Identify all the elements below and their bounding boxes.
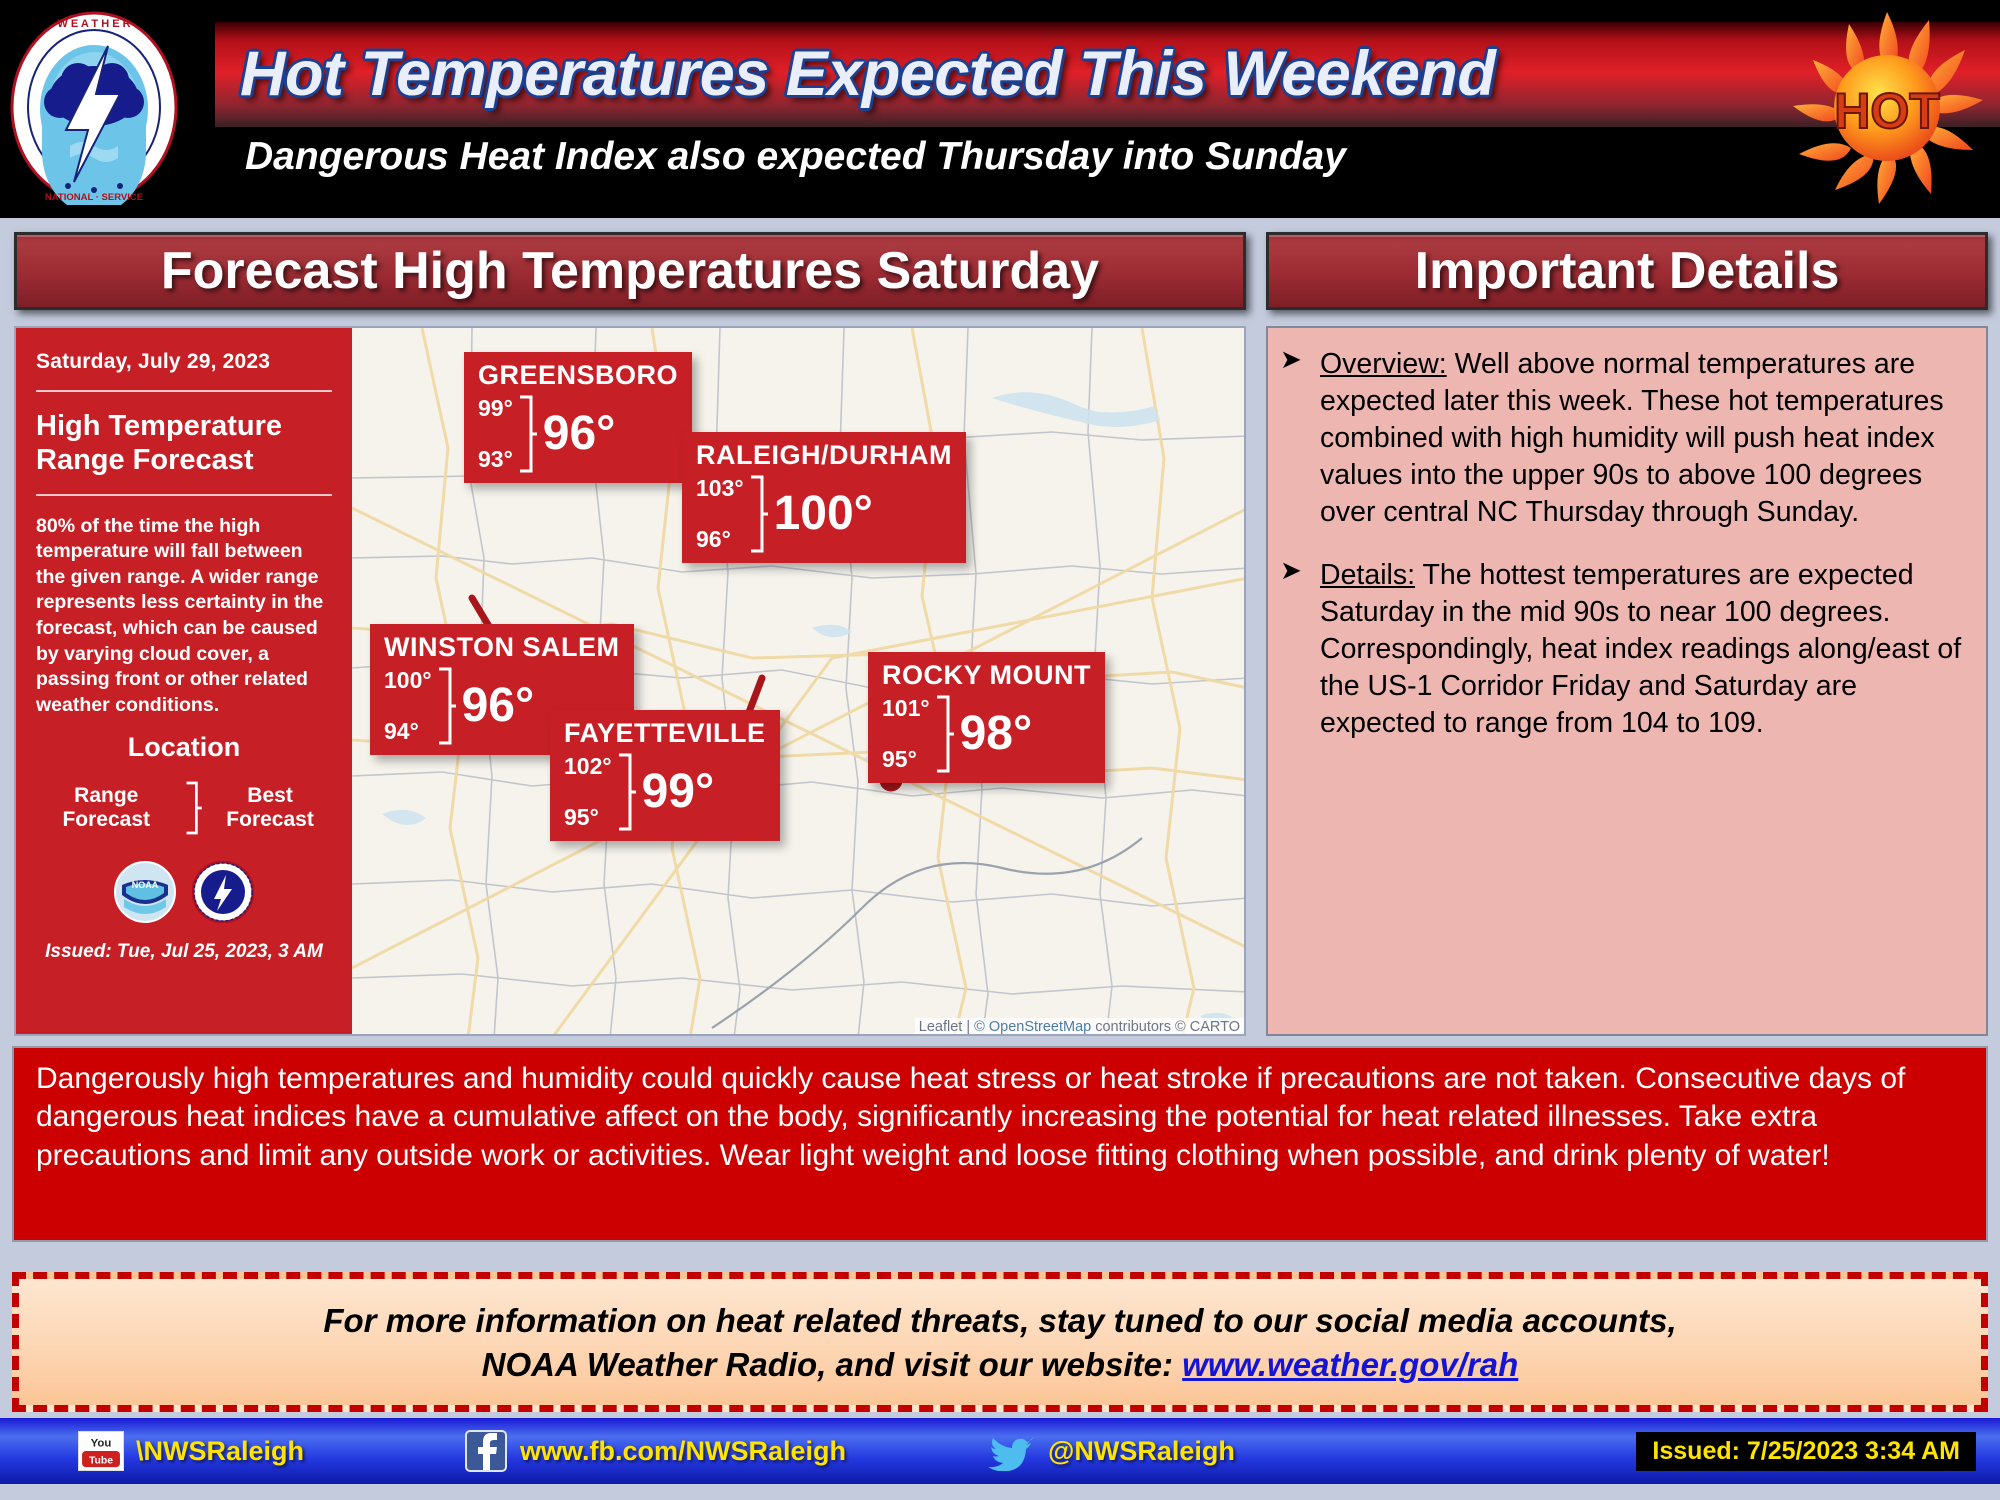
attribution-separator: | [962,1019,974,1035]
detail-bullet-details: ➤ Details: The hottest temperatures are … [1280,557,1972,742]
callout-rocky-mount[interactable]: ROCKY MOUNT 101° 95° 98° [868,652,1105,783]
attribution-leaflet[interactable]: Leaflet [919,1019,963,1035]
svg-text:You: You [91,1437,112,1449]
legend-description: 80% of the time the high temperature wil… [36,514,332,718]
issued-timestamp-badge: Issued: 7/25/2023 3:34 AM [1636,1432,1976,1471]
callout-range-high: 99° [478,395,513,422]
brace-icon [748,475,768,553]
legend-agency-seals: NOAA [36,861,332,923]
attribution-middle: contributors [1091,1019,1175,1035]
legend-date: Saturday, July 29, 2023 [36,350,332,374]
legend-divider-top [36,390,332,392]
more-information-box: For more information on heat related thr… [12,1272,1988,1412]
forecast-panel-header: Forecast High Temperatures Saturday [14,232,1246,310]
info-line-2-text: NOAA Weather Radio, and visit our websit… [482,1346,1182,1383]
detail-overview-label: Overview: [1320,348,1447,380]
brace-icon [183,777,203,839]
footer-twitter[interactable]: @NWSRaleigh [988,1431,1235,1471]
callout-city-name: RALEIGH/DURHAM [696,440,952,471]
callout-range-high: 101° [882,695,930,722]
attribution-carto[interactable]: © CARTO [1175,1019,1240,1035]
callout-best-forecast: 99° [642,768,715,816]
page-subtitle: Dangerous Heat Index also expected Thurs… [245,135,1346,179]
social-footer: You Tube \NWSRaleigh www.fb.com/NWSRalei… [0,1418,2000,1484]
brace-icon [436,667,456,745]
callout-range-high: 103° [696,475,744,502]
warning-text: Dangerously high temperatures and humidi… [36,1060,1966,1175]
forecast-panel-title: Forecast High Temperatures Saturday [161,241,1099,301]
callout-city-name: WINSTON SALEM [384,632,620,663]
issued-timestamp: Issued: 7/25/2023 3:34 AM [1652,1437,1960,1465]
callout-best-forecast: 96° [462,682,535,730]
legend-range-label: Range Forecast [36,784,177,832]
attribution-openstreetmap[interactable]: © OpenStreetMap [974,1019,1091,1035]
detail-overview-text: Overview: Well above normal temperatures… [1320,346,1972,531]
legend-location-label: Location [36,732,332,763]
callout-fayetteville[interactable]: FAYETTEVILLE 102° 95° 99° [550,710,780,841]
details-panel-title: Important Details [1415,241,1840,301]
callout-range-low: 95° [564,804,612,831]
info-line-1: For more information on heat related thr… [323,1299,1676,1343]
legend-divider-bottom [36,494,332,496]
brace-icon [517,395,537,473]
twitter-icon[interactable] [988,1431,1036,1471]
twitter-handle[interactable]: @NWSRaleigh [1048,1436,1235,1467]
brace-icon [934,695,954,773]
svg-text:NATIONAL · SERVICE: NATIONAL · SERVICE [45,192,143,203]
map-canvas: GREENSBORO 99° 93° 96° RALEIGH/DURHAM 10… [352,328,1246,1036]
info-line-2: NOAA Weather Radio, and visit our websit… [482,1343,1519,1387]
svg-text:Tube: Tube [89,1455,113,1466]
callout-range-low: 94° [384,718,432,745]
svg-text:NOAA: NOAA [132,880,159,890]
youtube-icon[interactable]: You Tube [78,1431,124,1471]
legend-key: Range Forecast Best Forecast [36,777,332,839]
legend-best-label: Best Forecast [208,784,332,832]
arrow-bullet-icon: ➤ [1280,346,1310,531]
arrow-bullet-icon: ➤ [1280,557,1310,742]
callout-greensboro[interactable]: GREENSBORO 99° 93° 96° [464,352,692,483]
callout-raleigh-durham[interactable]: RALEIGH/DURHAM 103° 96° 100° [682,432,966,563]
national-weather-service-logo: W E A T H E R NATIONAL · SERVICE [8,10,180,205]
svg-text:W E A T H E R: W E A T H E R [57,18,130,30]
brace-icon [616,753,636,831]
callout-best-forecast: 100° [774,490,873,538]
map-attribution[interactable]: Leaflet | © OpenStreetMap contributors ©… [915,1018,1244,1036]
legend-issued-time: Issued: Tue, Jul 25, 2023, 3 AM [36,941,332,963]
hot-sun-label: HOT [1834,83,1940,139]
callout-city-name: GREENSBORO [478,360,678,391]
website-link[interactable]: www.weather.gov/rah [1182,1346,1518,1383]
page-header: W E A T H E R NATIONAL · SERVICE Hot Tem… [0,0,2000,218]
callout-range-high: 102° [564,753,612,780]
nws-seal-icon [192,861,254,923]
legend-heading: High Temperature Range Forecast [36,410,332,478]
page-title: Hot Temperatures Expected This Weekend [240,38,1780,116]
details-panel-header: Important Details [1266,232,1988,310]
callout-range-low: 95° [882,746,930,773]
callout-best-forecast: 96° [543,410,616,458]
facebook-url[interactable]: www.fb.com/NWSRaleigh [520,1436,846,1467]
detail-details-text: Details: The hottest temperatures are ex… [1320,557,1972,742]
callout-city-name: FAYETTEVILLE [564,718,766,749]
callout-best-forecast: 98° [960,710,1033,758]
forecast-map-graphic: GREENSBORO 99° 93° 96° RALEIGH/DURHAM 10… [14,326,1246,1036]
noaa-seal-icon: NOAA [114,861,176,923]
warning-banner: Dangerously high temperatures and humidi… [12,1046,1988,1242]
detail-bullet-overview: ➤ Overview: Well above normal temperatur… [1280,346,1972,531]
facebook-icon[interactable] [464,1429,508,1473]
important-details-panel: ➤ Overview: Well above normal temperatur… [1266,326,1988,1036]
detail-details-body: The hottest temperatures are expected Sa… [1320,559,1961,739]
hot-sun-icon: HOT [1779,2,1994,214]
callout-range-low: 96° [696,526,744,553]
detail-details-label: Details: [1320,559,1415,591]
youtube-handle[interactable]: \NWSRaleigh [136,1436,304,1467]
map-legend-panel: Saturday, July 29, 2023 High Temperature… [16,328,352,1036]
footer-youtube[interactable]: You Tube \NWSRaleigh [78,1431,304,1471]
callout-city-name: ROCKY MOUNT [882,660,1091,691]
callout-range-low: 93° [478,446,513,473]
footer-facebook[interactable]: www.fb.com/NWSRaleigh [464,1429,846,1473]
callout-range-high: 100° [384,667,432,694]
